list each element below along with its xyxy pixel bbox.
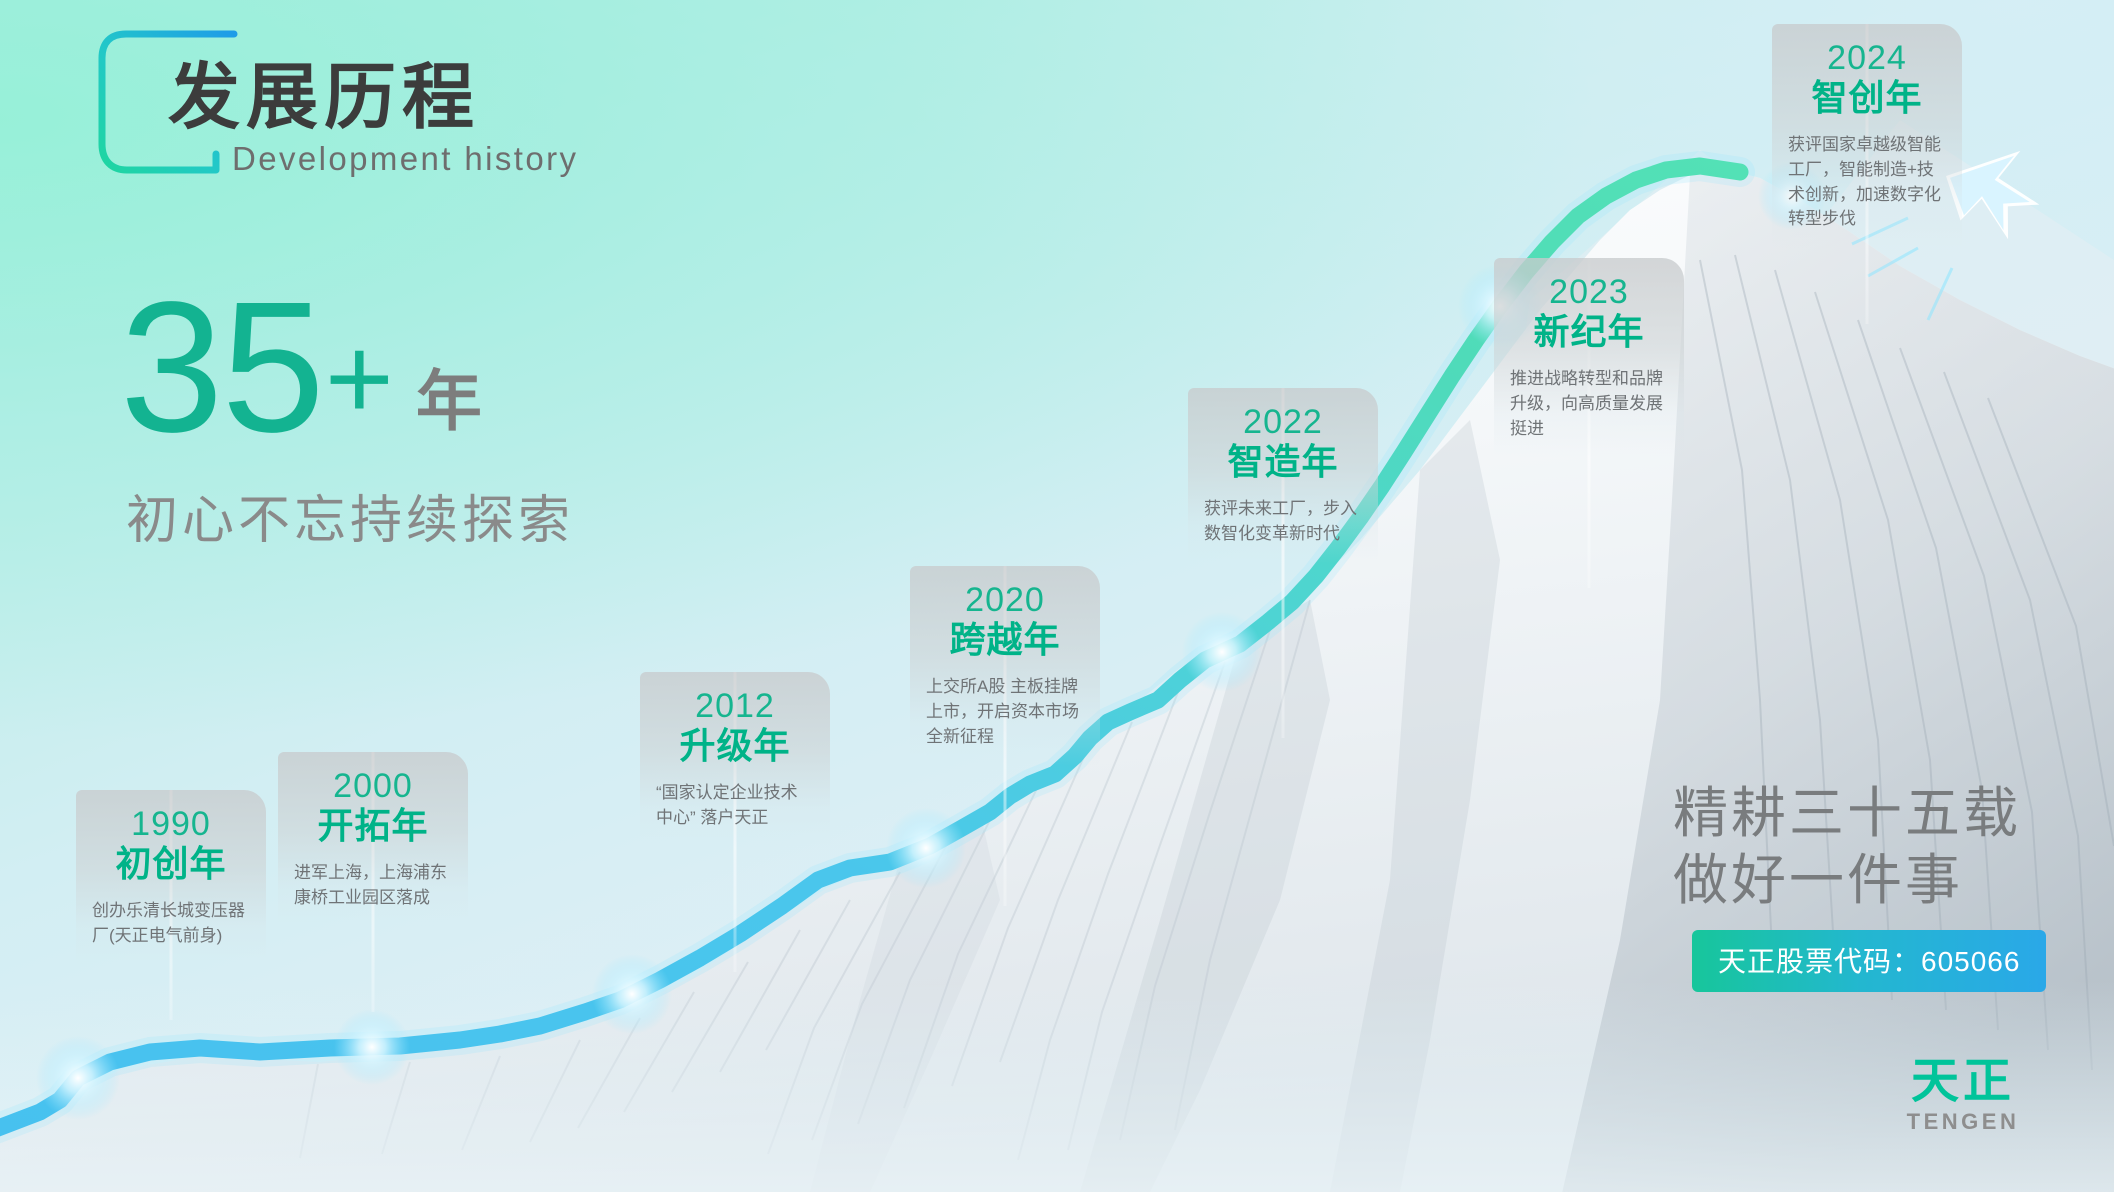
years-unit: 年 xyxy=(416,368,482,434)
milestone-2022[interactable]: 2022 智造年 获评未来工厂，步入数智化变革新时代 xyxy=(1188,388,1378,563)
milestone-card[interactable]: 2024 智创年 获评国家卓越级智能工厂，智能制造+技术创新，加速数字化转型步伐 xyxy=(1772,24,1962,248)
milestone-name: 跨越年 xyxy=(920,618,1090,661)
brand-name-cn: 天正 xyxy=(1888,1058,2038,1106)
milestone-card[interactable]: 2023 新纪年 推进战略转型和品牌升级，向高质量发展挺进 xyxy=(1494,258,1684,457)
milestone-desc: 获评国家卓越级智能工厂，智能制造+技术创新，加速数字化转型步伐 xyxy=(1782,133,1952,232)
milestone-year: 2012 xyxy=(650,686,820,726)
milestone-year: 2020 xyxy=(920,580,1090,620)
milestone-year: 2024 xyxy=(1782,38,1952,78)
milestone-name: 初创年 xyxy=(86,842,256,885)
milestone-name: 智创年 xyxy=(1782,76,1952,119)
milestone-1990[interactable]: 1990 初创年 创办乐清长城变压器厂(天正电气前身) xyxy=(76,790,266,965)
slogan: 精耕三十五载 做好一件事 xyxy=(1673,780,2021,914)
milestone-card[interactable]: 2020 跨越年 上交所A股 主板挂牌上市，开启资本市场全新征程 xyxy=(910,566,1100,765)
milestone-card[interactable]: 2022 智造年 获评未来工厂，步入数智化变革新时代 xyxy=(1188,388,1378,563)
milestone-2012[interactable]: 2012 升级年 “国家认定企业技术中心” 落户天正 xyxy=(640,672,830,847)
years-number: 35 xyxy=(120,288,323,448)
milestone-desc: 进军上海，上海浦东康桥工业园区落成 xyxy=(288,861,458,910)
milestone-desc: 创办乐清长城变压器厂(天正电气前身) xyxy=(86,899,256,948)
brand-name-en: TENGEN xyxy=(1888,1111,2038,1133)
milestone-card[interactable]: 2000 开拓年 进军上海，上海浦东康桥工业园区落成 xyxy=(278,752,468,927)
milestone-name: 开拓年 xyxy=(288,804,458,847)
milestone-desc: 上交所A股 主板挂牌上市，开启资本市场全新征程 xyxy=(920,675,1090,749)
page-subtitle: Development history xyxy=(232,140,578,178)
milestone-card[interactable]: 2012 升级年 “国家认定企业技术中心” 落户天正 xyxy=(640,672,830,847)
milestone-year: 1990 xyxy=(86,804,256,844)
milestone-2023[interactable]: 2023 新纪年 推进战略转型和品牌升级，向高质量发展挺进 xyxy=(1494,258,1684,457)
slogan-line-2: 做好一件事 xyxy=(1673,847,2021,914)
milestone-desc: 获评未来工厂，步入数智化变革新时代 xyxy=(1198,497,1368,546)
milestone-name: 升级年 xyxy=(650,724,820,767)
milestone-2000[interactable]: 2000 开拓年 进军上海，上海浦东康桥工业园区落成 xyxy=(278,752,468,927)
stock-code-badge: 天正股票代码：605066 xyxy=(1692,930,2046,992)
years-plus: + xyxy=(325,320,394,438)
brand-logo: 天正 TENGEN xyxy=(1888,1058,2038,1133)
page-title: 发展历程 xyxy=(168,62,480,134)
milestone-2020[interactable]: 2020 跨越年 上交所A股 主板挂牌上市，开启资本市场全新征程 xyxy=(910,566,1100,765)
years-tagline: 初心不忘持续探索 xyxy=(126,478,574,553)
milestone-2024[interactable]: 2024 智创年 获评国家卓越级智能工厂，智能制造+技术创新，加速数字化转型步伐 xyxy=(1772,24,1962,248)
slogan-line-1: 精耕三十五载 xyxy=(1673,780,2021,847)
milestone-year: 2000 xyxy=(288,766,458,806)
milestone-name: 智造年 xyxy=(1198,440,1368,483)
milestone-desc: “国家认定企业技术中心” 落户天正 xyxy=(650,781,820,830)
milestone-year: 2023 xyxy=(1504,272,1674,312)
milestone-year: 2022 xyxy=(1198,402,1368,442)
milestone-desc: 推进战略转型和品牌升级，向高质量发展挺进 xyxy=(1504,367,1674,441)
years-highlight: 35 + 年 初心不忘持续探索 xyxy=(120,288,574,553)
milestone-name: 新纪年 xyxy=(1504,310,1674,353)
milestone-card[interactable]: 1990 初创年 创办乐清长城变压器厂(天正电气前身) xyxy=(76,790,266,965)
